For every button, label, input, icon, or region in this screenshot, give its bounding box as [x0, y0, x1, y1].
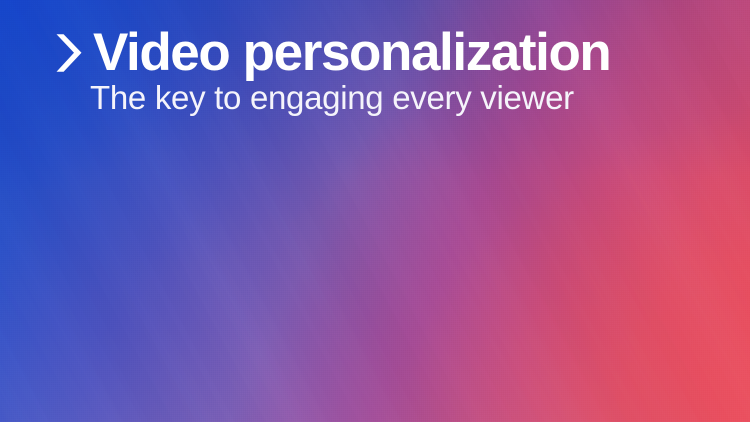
title-row: Video personalization: [55, 22, 610, 82]
slide-content: Video personalization The key to engagin…: [0, 0, 750, 422]
chevron-right-icon: [55, 31, 83, 75]
page-title: Video personalization: [93, 26, 610, 79]
presentation-slide: Video personalization The key to engagin…: [0, 0, 750, 422]
page-subtitle: The key to engaging every viewer: [90, 80, 574, 117]
